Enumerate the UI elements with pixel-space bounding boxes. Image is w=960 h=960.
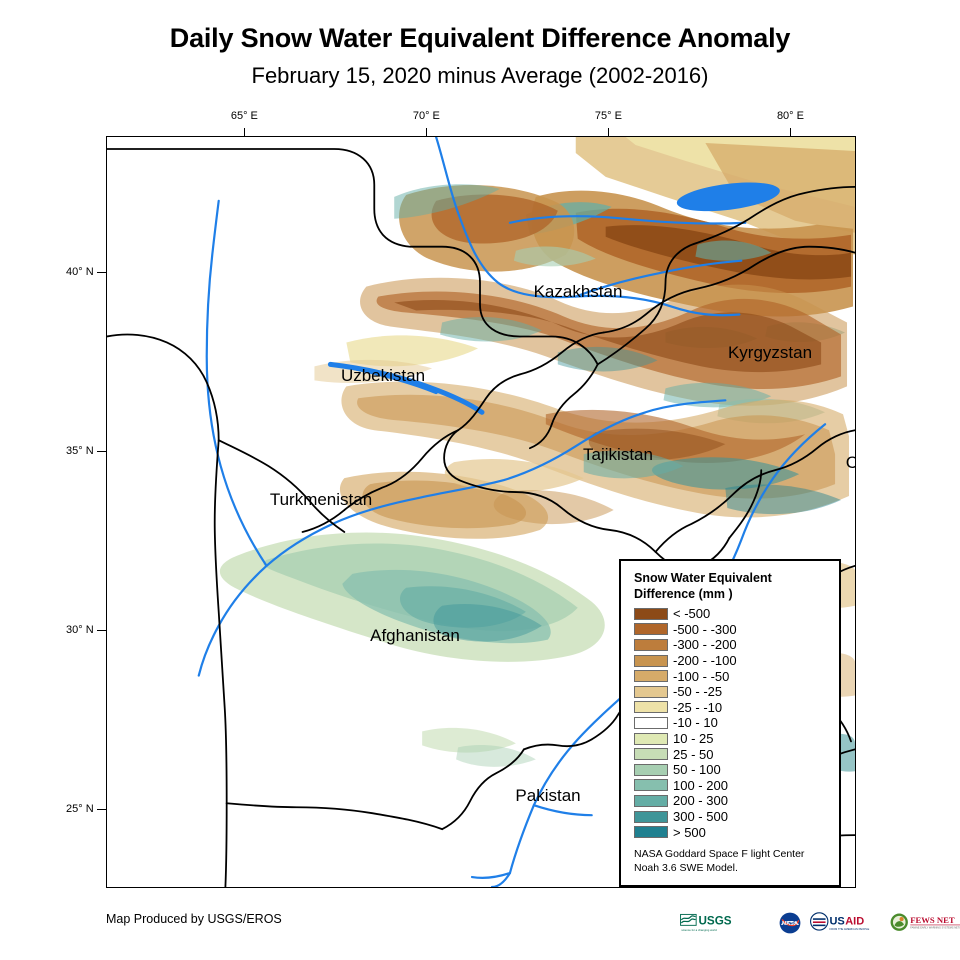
legend-row: > 500 <box>634 824 829 840</box>
svg-text:FAMINE EARLY WARNING SYSTEMS N: FAMINE EARLY WARNING SYSTEMS NETWORK <box>910 927 960 930</box>
svg-text:AID: AID <box>845 916 864 928</box>
legend-label: 25 - 50 <box>673 748 713 761</box>
lon-tick-mark <box>608 128 609 136</box>
legend-row: -300 - -200 <box>634 637 829 653</box>
title-block: Daily Snow Water Equivalent Difference A… <box>0 24 960 88</box>
legend-swatch <box>634 779 668 791</box>
legend-title-line1: Snow Water Equivalent <box>634 570 829 586</box>
svg-text:US: US <box>829 916 844 928</box>
legend-label: -500 - -300 <box>673 623 737 636</box>
legend-title: Snow Water Equivalent Difference (mm ) <box>634 570 829 602</box>
legend-row: -500 - -300 <box>634 622 829 638</box>
fewsnet-logo[interactable]: FEWS NET FAMINE EARLY WARNING SYSTEMS NE… <box>889 910 960 936</box>
legend-label: -100 - -50 <box>673 670 729 683</box>
legend-rows: < -500-500 - -300-300 - -200-200 - -100-… <box>634 606 829 840</box>
svg-text:science for a changing world: science for a changing world <box>681 928 717 932</box>
legend-swatch <box>634 670 668 682</box>
nasa-logo[interactable]: NASA <box>777 910 803 936</box>
legend-label: 100 - 200 <box>673 779 728 792</box>
legend-swatch <box>634 623 668 635</box>
lon-tick-mark <box>244 128 245 136</box>
legend-row: -200 - -100 <box>634 653 829 669</box>
legend-swatch <box>634 717 668 729</box>
legend-label: -200 - -100 <box>673 654 737 667</box>
legend-footer-line2: Noah 3.6 SWE Model. <box>634 861 829 875</box>
svg-text:FROM THE AMERICAN PEOPLE: FROM THE AMERICAN PEOPLE <box>829 927 869 931</box>
legend-swatch <box>634 764 668 776</box>
page-title: Daily Snow Water Equivalent Difference A… <box>0 24 960 54</box>
legend-label: -10 - 10 <box>673 716 718 729</box>
legend-label: 10 - 25 <box>673 732 713 745</box>
legend-swatch <box>634 826 668 838</box>
lon-tick-label: 65° E <box>231 110 258 122</box>
legend-row: -25 - -10 <box>634 700 829 716</box>
lat-tick-mark <box>97 451 106 452</box>
legend-label: 200 - 300 <box>673 794 728 807</box>
legend-label: -50 - -25 <box>673 685 722 698</box>
lat-tick-mark <box>97 272 106 273</box>
legend-row: 300 - 500 <box>634 809 829 825</box>
legend-label: -25 - -10 <box>673 701 722 714</box>
legend-row: 200 - 300 <box>634 793 829 809</box>
legend-swatch <box>634 701 668 713</box>
legend-label: -300 - -200 <box>673 638 737 651</box>
lat-tick-label: 40° N <box>66 266 94 278</box>
legend-swatch <box>634 639 668 651</box>
legend-row: -10 - 10 <box>634 715 829 731</box>
legend-label: > 500 <box>673 826 706 839</box>
usaid-logo[interactable]: US AID FROM THE AMERICAN PEOPLE <box>809 910 883 936</box>
lat-tick-label: 25° N <box>66 803 94 815</box>
legend-swatch <box>634 655 668 667</box>
legend-row: < -500 <box>634 606 829 622</box>
legend-row: 10 - 25 <box>634 731 829 747</box>
usgs-logo[interactable]: USGS science for a changing world <box>679 910 771 936</box>
legend-row: 50 - 100 <box>634 762 829 778</box>
map-credit: Map Produced by USGS/EROS <box>106 912 282 926</box>
lon-tick-label: 80° E <box>777 110 804 122</box>
lon-tick-label: 75° E <box>595 110 622 122</box>
legend-footer: NASA Goddard Space F light Center Noah 3… <box>634 847 829 875</box>
legend-label: 300 - 500 <box>673 810 728 823</box>
legend-swatch <box>634 608 668 620</box>
svg-text:USGS: USGS <box>698 915 731 928</box>
legend-swatch <box>634 811 668 823</box>
legend-swatch <box>634 795 668 807</box>
legend-label: 50 - 100 <box>673 763 721 776</box>
lat-tick-mark <box>97 630 106 631</box>
svg-text:NASA: NASA <box>782 921 798 927</box>
legend-box: Snow Water Equivalent Difference (mm ) <… <box>619 559 841 887</box>
legend-row: -100 - -50 <box>634 668 829 684</box>
lon-tick-label: 70° E <box>413 110 440 122</box>
legend-swatch <box>634 733 668 745</box>
lat-tick-label: 35° N <box>66 445 94 457</box>
legend-row: 25 - 50 <box>634 746 829 762</box>
lat-tick-label: 30° N <box>66 624 94 636</box>
legend-row: -50 - -25 <box>634 684 829 700</box>
legend-swatch <box>634 748 668 760</box>
legend-swatch <box>634 686 668 698</box>
legend-row: 100 - 200 <box>634 778 829 794</box>
page-subtitle: February 15, 2020 minus Average (2002-20… <box>0 64 960 88</box>
lon-tick-mark <box>790 128 791 136</box>
svg-text:FEWS NET: FEWS NET <box>910 915 955 925</box>
lat-tick-mark <box>97 809 106 810</box>
lon-tick-mark <box>426 128 427 136</box>
legend-title-line2: Difference (mm ) <box>634 586 829 602</box>
legend-footer-line1: NASA Goddard Space F light Center <box>634 847 829 861</box>
legend-label: < -500 <box>673 607 710 620</box>
logo-strip: USGS science for a changing world NASA U… <box>679 908 960 938</box>
